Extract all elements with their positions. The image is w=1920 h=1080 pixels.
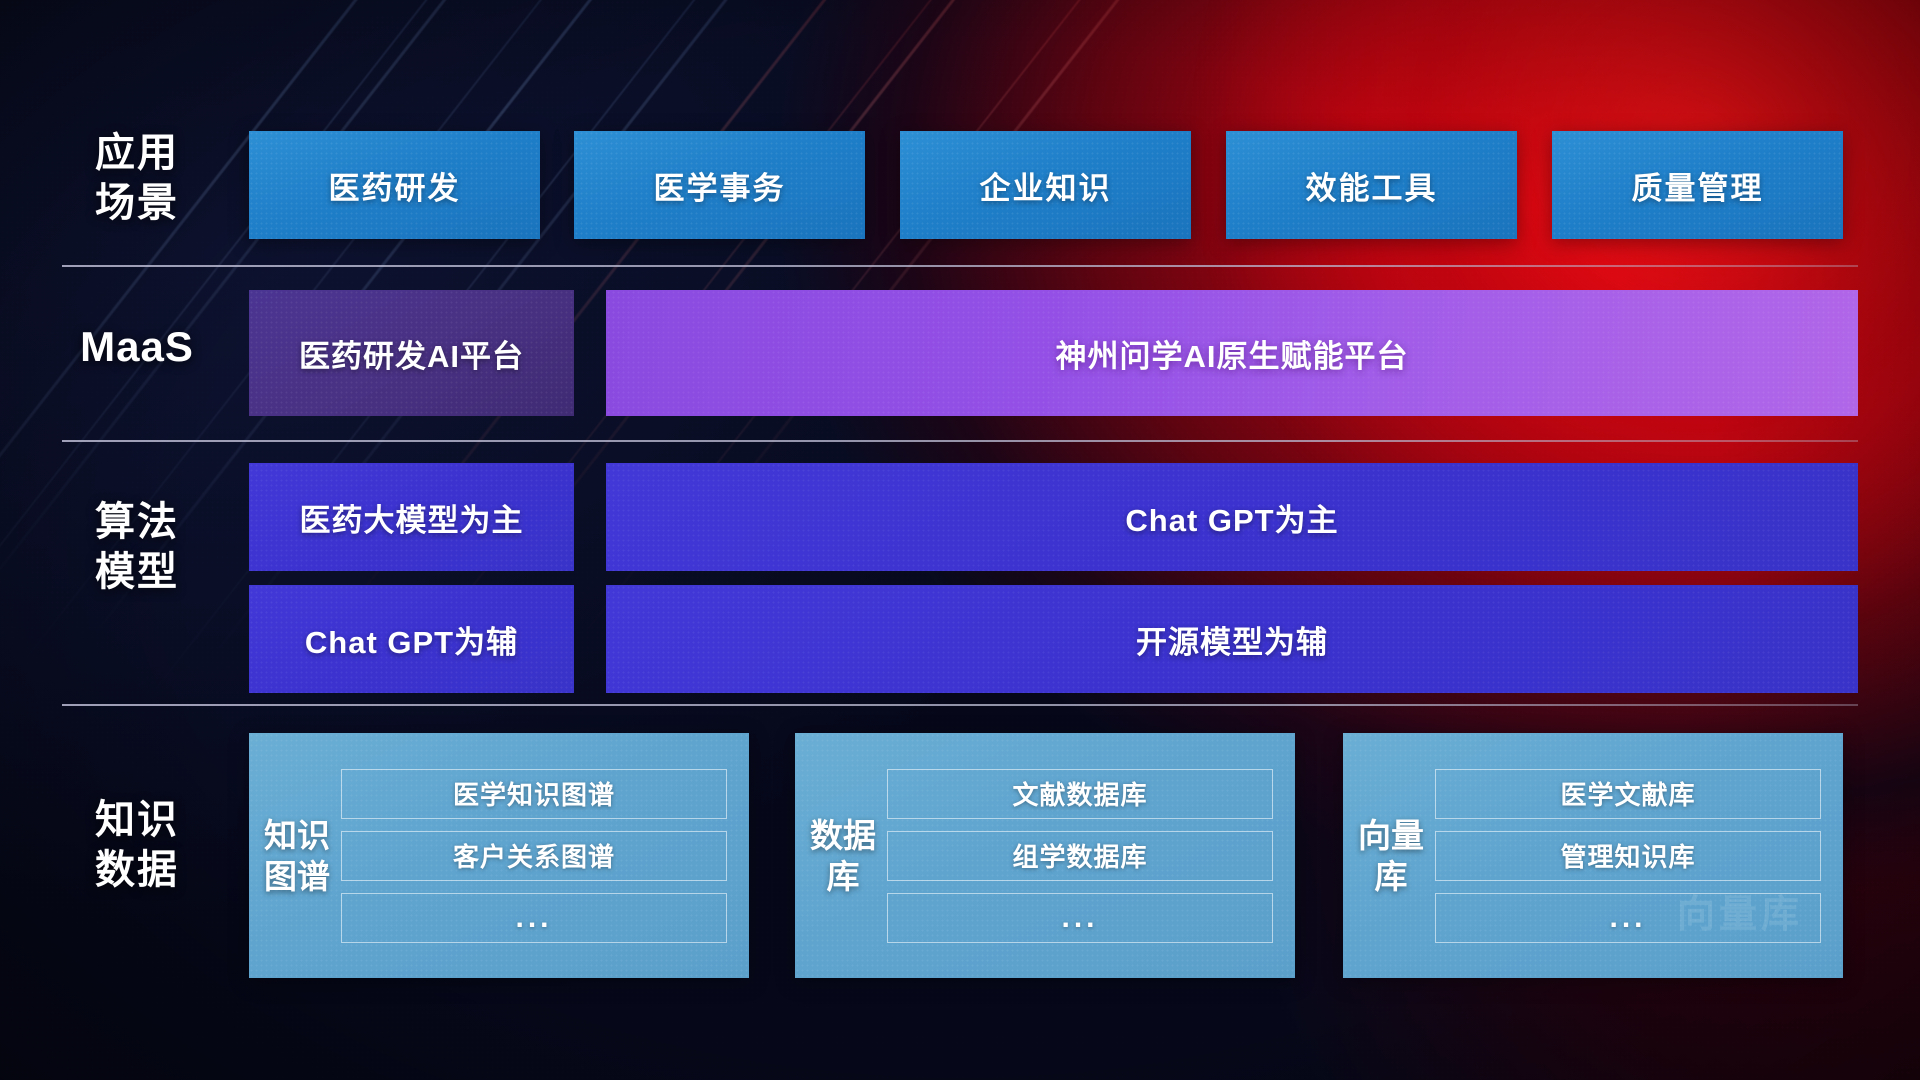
knowledge-card-items: 医学知识图谱 客户关系图谱 ...: [341, 769, 727, 943]
app-box-medical-affairs[interactable]: 医学事务: [574, 131, 865, 239]
knowledge-card-database[interactable]: 数据库 文献数据库 组学数据库 ...: [795, 733, 1295, 978]
row-label-algorithm: 算法 模型: [62, 497, 212, 597]
app-box-label: 医药研发: [329, 163, 461, 208]
knowledge-card-title: 数据库: [807, 815, 879, 897]
knowledge-item-more[interactable]: ...: [341, 893, 727, 943]
knowledge-card-vector-store[interactable]: 向量库 向量库 医学文献库 管理知识库 ...: [1343, 733, 1843, 978]
maas-box-drug-ai-platform[interactable]: 医药研发AI平台: [249, 290, 574, 416]
maas-boxes: 医药研发AI平台 神州问学AI原生赋能平台: [249, 290, 1858, 416]
row-label-application-line1: 应用: [62, 128, 212, 178]
row-label-knowledge-line2: 数据: [62, 845, 212, 895]
app-box-efficiency-tools[interactable]: 效能工具: [1226, 131, 1517, 239]
knowledge-item[interactable]: 组学数据库: [887, 831, 1273, 881]
row-label-knowledge-line1: 知识: [62, 795, 212, 845]
divider-maas-algorithm: [62, 440, 1858, 442]
divider-application-maas: [62, 265, 1858, 267]
app-box-label: 效能工具: [1306, 163, 1438, 208]
row-label-application: 应用 场景: [62, 128, 212, 228]
knowledge-item[interactable]: 医学文献库: [1435, 769, 1821, 819]
knowledge-item-more[interactable]: ...: [887, 893, 1273, 943]
alg-box-label: 医药大模型为主: [300, 495, 524, 540]
knowledge-item[interactable]: 管理知识库: [1435, 831, 1821, 881]
row-label-maas-text: MaaS: [62, 322, 212, 372]
architecture-diagram: 应用 场景 医药研发 医学事务 企业知识 效能工具 质量管理: [0, 0, 1920, 1080]
knowledge-card-items: 医学文献库 管理知识库 ...: [1435, 769, 1821, 943]
knowledge-item[interactable]: 文献数据库: [887, 769, 1273, 819]
maas-box-shenzhou-platform[interactable]: 神州问学AI原生赋能平台: [606, 290, 1858, 416]
divider-algorithm-knowledge: [62, 704, 1858, 706]
app-box-label: 企业知识: [980, 163, 1112, 208]
knowledge-card-title: 向量库: [1355, 815, 1427, 897]
knowledge-item[interactable]: 客户关系图谱: [341, 831, 727, 881]
algorithm-boxes: 医药大模型为主 Chat GPT为主 Chat GPT为辅 开源模型为辅: [249, 463, 1858, 693]
alg-box-drug-model-primary[interactable]: 医药大模型为主: [249, 463, 574, 571]
row-label-maas: MaaS: [62, 322, 212, 372]
app-box-quality-management[interactable]: 质量管理: [1552, 131, 1843, 239]
alg-box-chatgpt-secondary[interactable]: Chat GPT为辅: [249, 585, 574, 693]
alg-box-label: Chat GPT为主: [1125, 495, 1338, 540]
knowledge-item-more[interactable]: ...: [1435, 893, 1821, 943]
alg-box-label: 开源模型为辅: [1136, 617, 1328, 662]
app-box-label: 质量管理: [1632, 163, 1764, 208]
row-label-algorithm-line1: 算法: [62, 497, 212, 547]
app-box-drug-rnd[interactable]: 医药研发: [249, 131, 540, 239]
row-label-application-line2: 场景: [62, 178, 212, 228]
row-label-algorithm-line2: 模型: [62, 547, 212, 597]
knowledge-cards: 知识图谱 医学知识图谱 客户关系图谱 ... 数据库 文献数据库 组学数据库 .…: [249, 733, 1858, 978]
row-label-knowledge: 知识 数据: [62, 795, 212, 895]
application-boxes: 医药研发 医学事务 企业知识 效能工具 质量管理: [249, 131, 1858, 239]
knowledge-card-items: 文献数据库 组学数据库 ...: [887, 769, 1273, 943]
maas-box-label: 神州问学AI原生赋能平台: [1056, 331, 1409, 376]
app-box-label: 医学事务: [654, 163, 786, 208]
knowledge-card-title: 知识图谱: [261, 815, 333, 897]
knowledge-item[interactable]: 医学知识图谱: [341, 769, 727, 819]
maas-box-label: 医药研发AI平台: [299, 331, 524, 376]
alg-box-chatgpt-primary[interactable]: Chat GPT为主: [606, 463, 1858, 571]
app-box-enterprise-knowledge[interactable]: 企业知识: [900, 131, 1191, 239]
alg-box-opensource-secondary[interactable]: 开源模型为辅: [606, 585, 1858, 693]
alg-box-label: Chat GPT为辅: [305, 617, 518, 662]
knowledge-card-graph[interactable]: 知识图谱 医学知识图谱 客户关系图谱 ...: [249, 733, 749, 978]
